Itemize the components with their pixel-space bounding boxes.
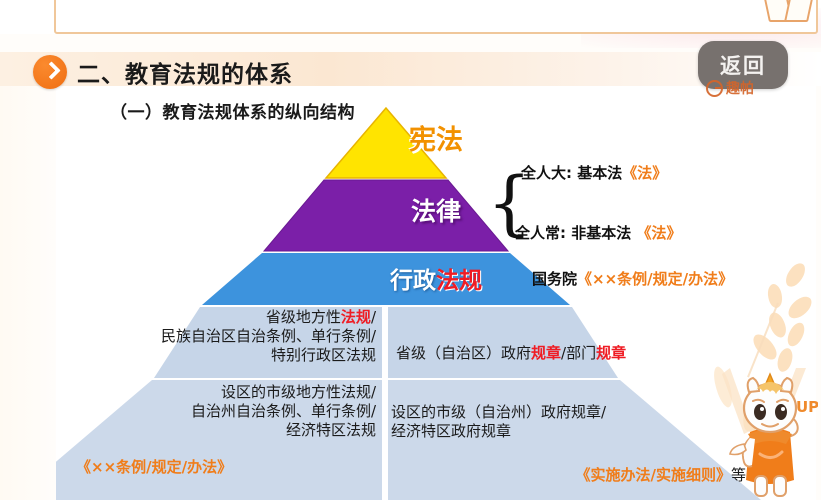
city-local-line-1: 设区的市级地方性法规/ <box>76 383 376 402</box>
text-doc: 《法》 <box>636 224 681 242</box>
pyramid-diagram: 宪法 法律 行政法规 省级地方性法规/ 民族自治区自治条例、单行条例/ 特别行政… <box>56 86 816 500</box>
admin-label-red: 法规 <box>436 268 482 294</box>
decorative-frame <box>54 0 818 34</box>
chevron-right-icon <box>33 55 67 89</box>
text-doc: 《××条例/规定/办法》 <box>577 270 733 288</box>
city-local-block: 设区的市级地方性法规/ 自治州自治条例、单行条例/ 经济特区法规 <box>76 383 376 439</box>
provincial-local-line-1: 省级地方性法规/ <box>76 308 376 327</box>
provincial-rules-block: 省级（自治区）政府规章/部门规章 <box>396 344 716 363</box>
text-red: 规章 <box>596 344 626 362</box>
provincial-local-line-3: 特别行政区法规 <box>76 346 376 365</box>
provincial-rules-line-1: 省级（自治区）政府规章/部门规章 <box>396 344 716 363</box>
mascot-up-badge: UP <box>796 398 818 416</box>
unicorn-mascot: UP <box>722 368 818 500</box>
admin-label-white: 行政 <box>390 268 436 294</box>
page-title: 二、教育法规的体系 <box>77 55 293 89</box>
text: /部门 <box>561 344 596 362</box>
text: 全人常: 非基本法 <box>515 224 636 242</box>
pyramid-label-constitution: 宪法 <box>56 118 816 157</box>
city-local-line-3: 经济特区法规 <box>76 421 376 440</box>
footnote-right-doc: 《实施办法/实施细则》 <box>576 466 731 484</box>
return-button-label: 返回 <box>720 50 766 80</box>
city-rules-line-2: 经济特区政府规章 <box>391 422 731 441</box>
annotation-npcsc: 全人常: 非基本法 《法》 <box>515 222 681 243</box>
city-rules-block: 设区的市级（自治州）政府规章/ 经济特区政府规章 <box>391 403 731 441</box>
annotation-npc: 全人大: 基本法《法》 <box>521 162 667 183</box>
city-rules-line-1: 设区的市级（自治州）政府规章/ <box>391 403 731 422</box>
text-red: 法规 <box>341 308 371 326</box>
left-margin-tint <box>0 86 58 500</box>
text-doc: 《法》 <box>622 164 667 182</box>
text-red: 规章 <box>531 344 561 362</box>
city-local-line-2: 自治州自治条例、单行条例/ <box>76 402 376 421</box>
brace-icon: { <box>487 160 513 246</box>
provincial-local-block: 省级地方性法规/ 民族自治区自治条例、单行条例/ 特别行政区法规 <box>76 308 376 364</box>
provincial-local-line-2: 民族自治区自治条例、单行条例/ <box>76 327 376 346</box>
text: 全人大: 基本法 <box>521 164 622 182</box>
footnote-left: 《××条例/规定/办法》 <box>76 458 286 477</box>
text: 省级地方性 <box>266 308 341 326</box>
ribbon-icon <box>766 0 808 20</box>
footnote-right: 《实施办法/实施细则》等 <box>456 466 746 485</box>
text: 国务院 <box>532 270 577 288</box>
text: 省级（自治区）政府 <box>396 344 531 362</box>
slide-canvas: 二、教育法规的体系 （一）教育法规体系的纵向结构 返回 趣帕 宪法 法律 <box>0 0 821 500</box>
pyramid-label-law: 法律 <box>56 192 816 228</box>
annotation-state-council: 国务院《××条例/规定/办法》 <box>532 268 733 289</box>
text: / <box>371 308 376 326</box>
